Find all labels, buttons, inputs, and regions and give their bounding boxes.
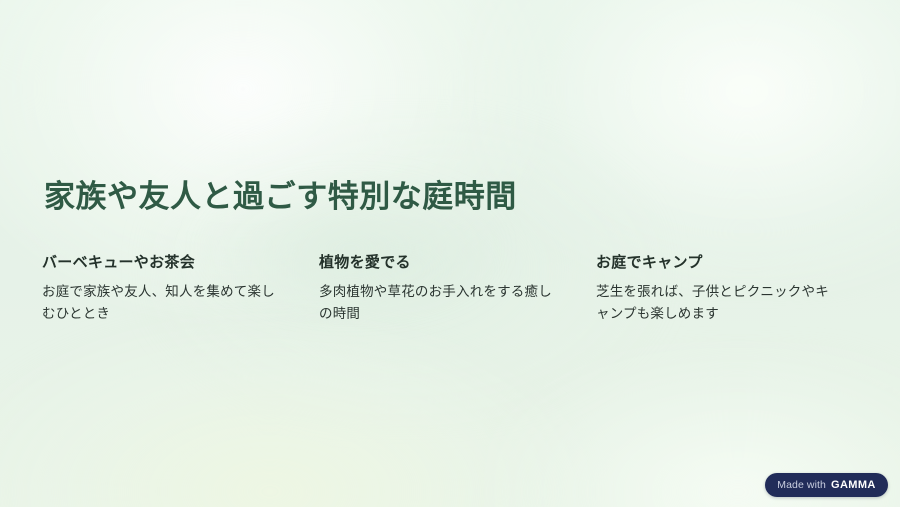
feature-column-2: 植物を愛でる 多肉植物や草花のお手入れをする癒しの時間 xyxy=(319,252,564,325)
slide-content: 家族や友人と過ごす特別な庭時間 バーベキューやお茶会 お庭で家族や友人、知人を集… xyxy=(0,0,900,507)
feature-heading: お庭でキャンプ xyxy=(596,252,841,273)
feature-body: 芝生を張れば、子供とピクニックやキャンプも楽しめます xyxy=(596,281,841,325)
feature-heading: バーベキューやお茶会 xyxy=(42,252,287,273)
feature-body: お庭で家族や友人、知人を集めて楽しむひととき xyxy=(42,281,287,325)
page-title: 家族や友人と過ごす特別な庭時間 xyxy=(44,178,517,216)
feature-column-1: バーベキューやお茶会 お庭で家族や友人、知人を集めて楽しむひととき xyxy=(42,252,287,325)
badge-prefix-label: Made with xyxy=(777,480,826,491)
made-with-gamma-badge[interactable]: Made with GAMMA xyxy=(765,473,888,497)
feature-columns: バーベキューやお茶会 お庭で家族や友人、知人を集めて楽しむひととき 植物を愛でる… xyxy=(42,252,858,325)
feature-heading: 植物を愛でる xyxy=(319,252,564,273)
badge-brand-label: GAMMA xyxy=(831,480,876,491)
slide-canvas: 家族や友人と過ごす特別な庭時間 バーベキューやお茶会 お庭で家族や友人、知人を集… xyxy=(0,0,900,507)
feature-body: 多肉植物や草花のお手入れをする癒しの時間 xyxy=(319,281,564,325)
feature-column-3: お庭でキャンプ 芝生を張れば、子供とピクニックやキャンプも楽しめます xyxy=(596,252,841,325)
